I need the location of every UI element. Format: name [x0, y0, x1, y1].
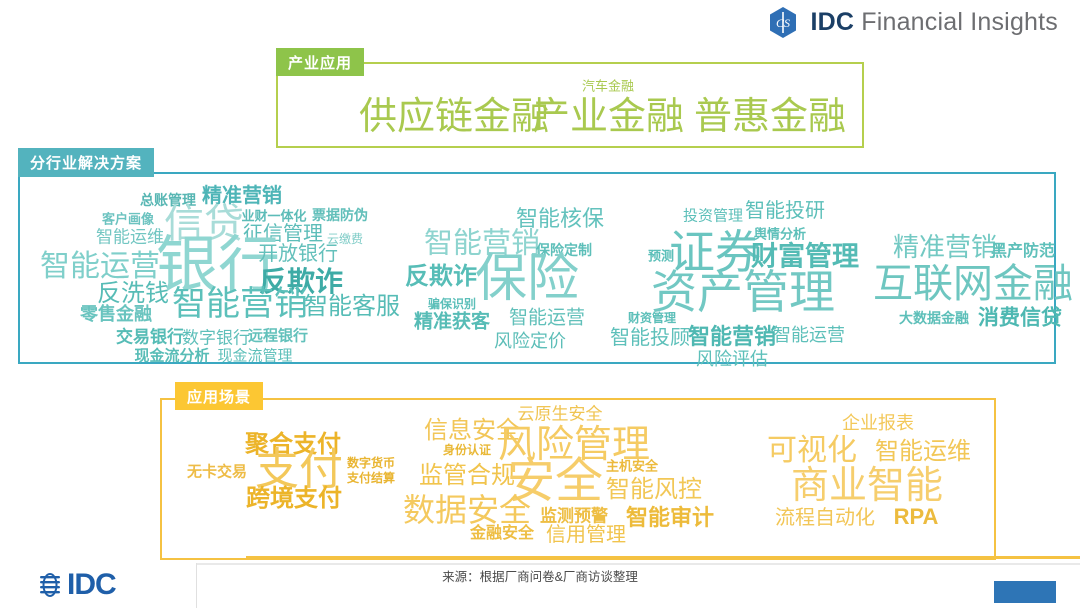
cloud-word: 客户画像 — [102, 213, 154, 226]
cloud-word: 远程银行 — [248, 329, 308, 344]
cloud-word: 智能审计 — [626, 507, 714, 529]
industry-word-cloud: 供应链金融汽车金融产业金融普惠金融 — [278, 64, 862, 146]
badge-vertical-solutions: 分行业解决方案 — [18, 148, 154, 177]
cloud-word: 保险 — [475, 253, 579, 305]
cloud-word: 反欺诈 — [405, 265, 477, 289]
solutions-word-cloud: 总账管理精准营销客户画像信贷业财一体化票据防伪征信管理云缴费智能运维智能运营银行… — [20, 174, 1054, 362]
cloud-word: 支付结算 — [347, 472, 395, 484]
cloud-word: 无卡交易 — [187, 465, 247, 480]
cloud-word: 投资管理 — [683, 209, 743, 224]
cloud-word: 智能投顾 — [610, 328, 690, 348]
cloud-word: 互联网金融 — [873, 264, 1073, 304]
cloud-word: 零售金融 — [80, 305, 152, 323]
cloud-word: 普惠金融 — [694, 98, 846, 136]
cloud-word: 汽车金融 — [582, 80, 634, 93]
section-industry-application: 供应链金融汽车金融产业金融普惠金融 — [276, 62, 864, 148]
cloud-word: 黑产防范 — [991, 244, 1055, 260]
cloud-word: 智能营销 — [172, 287, 308, 321]
badge-application-scenarios: 应用场景 — [175, 382, 263, 410]
cloud-word: 财资管理 — [628, 312, 676, 324]
cloud-word: RPA — [894, 506, 939, 528]
cloud-word: 业财一体化 — [241, 210, 306, 223]
brand-name: IDC Financial Insights — [810, 8, 1058, 37]
slide-canvas: CS IDC Financial Insights 供应链金融汽车金融产业金融普… — [0, 0, 1080, 608]
cloud-word: 精准营销 — [893, 234, 997, 260]
cloud-word: 智能运维 — [875, 440, 971, 464]
cloud-word: 智能运营 — [773, 326, 845, 344]
section-vertical-solutions: 总账管理精准营销客户画像信贷业财一体化票据防伪征信管理云缴费智能运维智能运营银行… — [18, 172, 1056, 364]
cloud-word: 智能运营 — [509, 309, 585, 328]
cloud-word: 反洗钱 — [97, 282, 169, 306]
brand-name-bold: IDC — [810, 8, 854, 36]
cloud-word: 消费信贷 — [978, 308, 1062, 329]
cloud-word: 供应链金融 — [359, 98, 549, 136]
cloud-word: 监管合规 — [419, 464, 515, 488]
cloud-word: 可视化 — [767, 436, 857, 466]
cloud-word: 云原生安全 — [518, 406, 603, 423]
cloud-word: 企业报表 — [842, 414, 914, 432]
cloud-word: 产业金融 — [532, 98, 684, 136]
brand-header: CS IDC Financial Insights — [768, 6, 1058, 39]
cloud-word: 智能运维 — [96, 229, 164, 246]
cloud-word: 开放银行 — [258, 244, 338, 264]
cloud-word: 现金流分析 — [134, 349, 209, 364]
badge-industry-application: 产业应用 — [276, 48, 364, 76]
cloud-word: 身份认证 — [443, 444, 491, 456]
idc-hex-logo-icon: CS — [768, 6, 798, 39]
cloud-word: 主机安全 — [606, 460, 658, 473]
brand-name-rest: Financial Insights — [854, 8, 1058, 36]
cloud-word: 智能风控 — [606, 478, 702, 502]
cloud-word: 舆情分析 — [754, 228, 806, 241]
cloud-word: 智能营销 — [688, 326, 776, 348]
cloud-word: 信用管理 — [546, 525, 626, 545]
cloud-word: 风险定价 — [494, 332, 566, 350]
cloud-word: 现金流管理 — [217, 349, 292, 364]
cloud-word: 数字货币 — [347, 457, 395, 469]
cloud-word: 交易银行 — [116, 329, 184, 346]
cloud-word: 数字银行 — [182, 330, 250, 347]
cloud-word: 监测预警 — [540, 508, 608, 525]
cloud-word: 骗保识别 — [428, 298, 476, 310]
cloud-word: 精准获客 — [414, 313, 490, 332]
cloud-word: 风险评估 — [696, 350, 768, 368]
footer-blue-chip — [994, 581, 1056, 603]
source-note: 来源：根据厂商问卷&厂商访谈整理 — [0, 566, 1080, 585]
footer-accent-rule — [246, 556, 1080, 559]
cloud-word: 智能客服 — [304, 295, 400, 319]
cloud-word: 资产管理 — [651, 269, 835, 315]
cloud-word: 大数据金融 — [899, 311, 969, 325]
cloud-word: 流程自动化 — [775, 508, 875, 528]
cloud-word: 智能投研 — [745, 201, 825, 221]
cloud-word: 金融安全 — [470, 526, 534, 542]
scenarios-word-cloud: 聚合支付无卡交易支付数字货币支付结算跨境支付云原生安全信息安全身份认证风险管理监… — [162, 400, 994, 558]
cloud-word: 票据防伪 — [312, 208, 368, 222]
cloud-word: 商业智能 — [791, 467, 943, 505]
cloud-word: 数据安全 — [403, 494, 531, 526]
section-application-scenarios: 聚合支付无卡交易支付数字货币支付结算跨境支付云原生安全信息安全身份认证风险管理监… — [160, 398, 996, 560]
cloud-word: 跨境支付 — [246, 487, 342, 511]
cloud-word: 智能运营 — [40, 252, 160, 282]
